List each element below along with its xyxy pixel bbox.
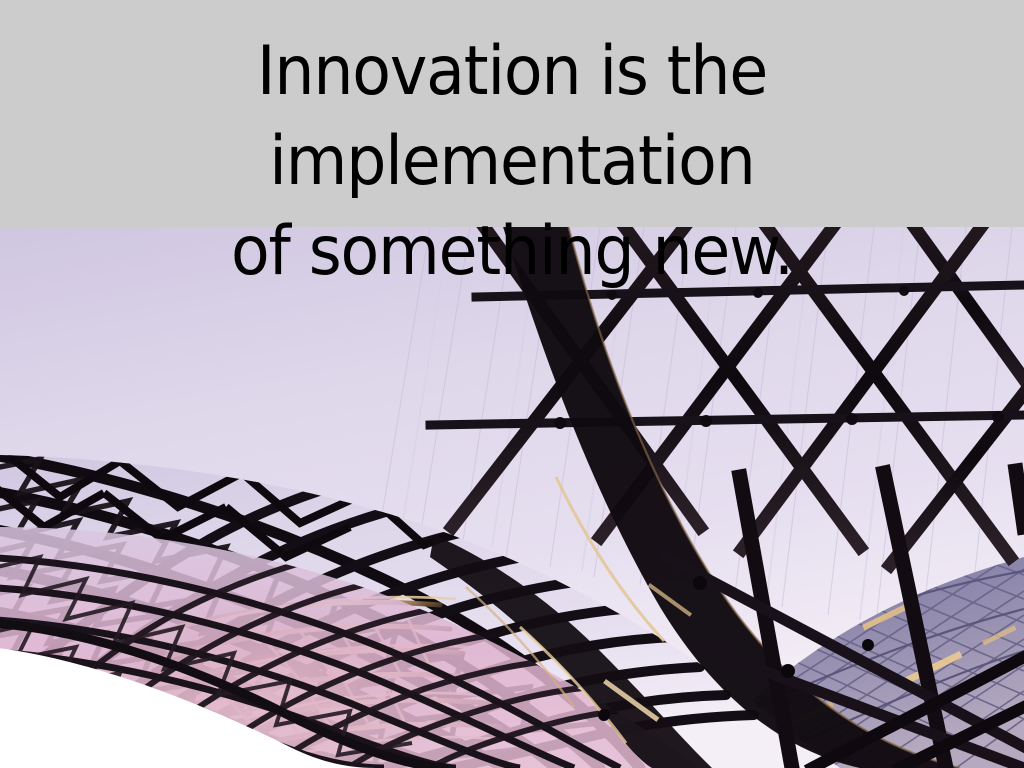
quote-text: Innovation is the implementation of some… <box>36 27 988 297</box>
architecture-photo-svg <box>0 227 1024 768</box>
architecture-photo <box>0 227 1024 768</box>
presentation-slide: Innovation is the implementation of some… <box>0 0 1024 768</box>
caption-band: Innovation is the implementation of some… <box>0 0 1024 227</box>
